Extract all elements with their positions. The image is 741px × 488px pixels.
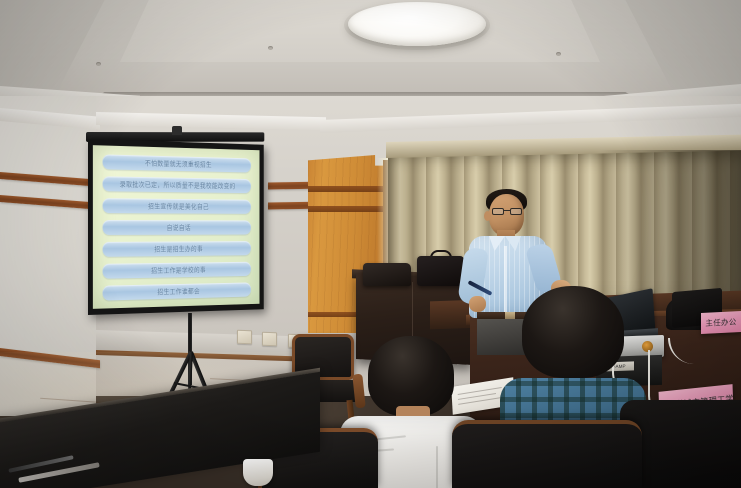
slide-bullet-1-text: 不怕数量就无须重视招生 <box>145 158 212 169</box>
conference-room-photo: 不怕数量就无须重视招生 录取批次已定，所以质量不是我校能改变的 招生宣传就是美化… <box>0 0 741 488</box>
slide-bullet-4: 自说自话 <box>103 220 251 235</box>
slide-bullet-4-text: 自说自话 <box>167 223 191 232</box>
presenter-ear <box>484 211 491 221</box>
foreground-chair-center[interactable] <box>452 420 642 488</box>
slide-bullet-6-text: 招生工作是学校的事 <box>151 265 206 275</box>
slide-bullet-6: 招生工作是学校的事 <box>103 262 251 279</box>
slide-bullet-3-text: 招生宣传就是美化自己 <box>148 201 209 211</box>
ceiling-dot <box>268 46 273 50</box>
slide-bullet-5: 招生是招生办的事 <box>103 241 251 257</box>
wood-panel-stripe <box>308 186 386 192</box>
slide-bullet-1: 不怕数量就无须重视招生 <box>103 154 251 172</box>
slide-bullet-5-text: 招生是招生办的事 <box>154 244 203 254</box>
presenter-left-hand <box>469 296 486 312</box>
round-ceiling-lamp-icon <box>348 2 486 46</box>
slide-bullet-7-text: 招生工作谁都会 <box>157 286 200 296</box>
laptop-bag <box>363 263 411 286</box>
slide-bullet-7: 招生工作谁都会 <box>103 282 251 300</box>
projected-slide: 不怕数量就无须重视招生 录取批次已定，所以质量不是我校能改变的 招生宣传就是美化… <box>93 145 260 309</box>
eyeglasses-icon <box>492 208 522 215</box>
name-card-upper: 主任办公 <box>701 311 741 334</box>
slide-bullet-2: 录取批次已定，所以质量不是我校能改变的 <box>103 176 251 193</box>
slide-bullet-2-text: 录取批次已定，所以质量不是我校能改变的 <box>120 179 236 190</box>
slide-bullet-3: 招生宣传就是美化自己 <box>103 198 251 214</box>
wood-panel-stripe <box>308 206 386 212</box>
ceiling-dot <box>556 52 561 56</box>
projection-screen: 不怕数量就无须重视招生 录取批次已定，所以质量不是我校能改变的 招生宣传就是美化… <box>88 139 264 315</box>
person-hair <box>522 286 624 378</box>
screen-hook <box>172 126 182 135</box>
name-card-upper-text: 主任办公 <box>705 316 736 329</box>
person-hair <box>368 336 454 416</box>
paper-cup[interactable] <box>243 459 273 486</box>
ceiling-dot <box>96 62 101 66</box>
